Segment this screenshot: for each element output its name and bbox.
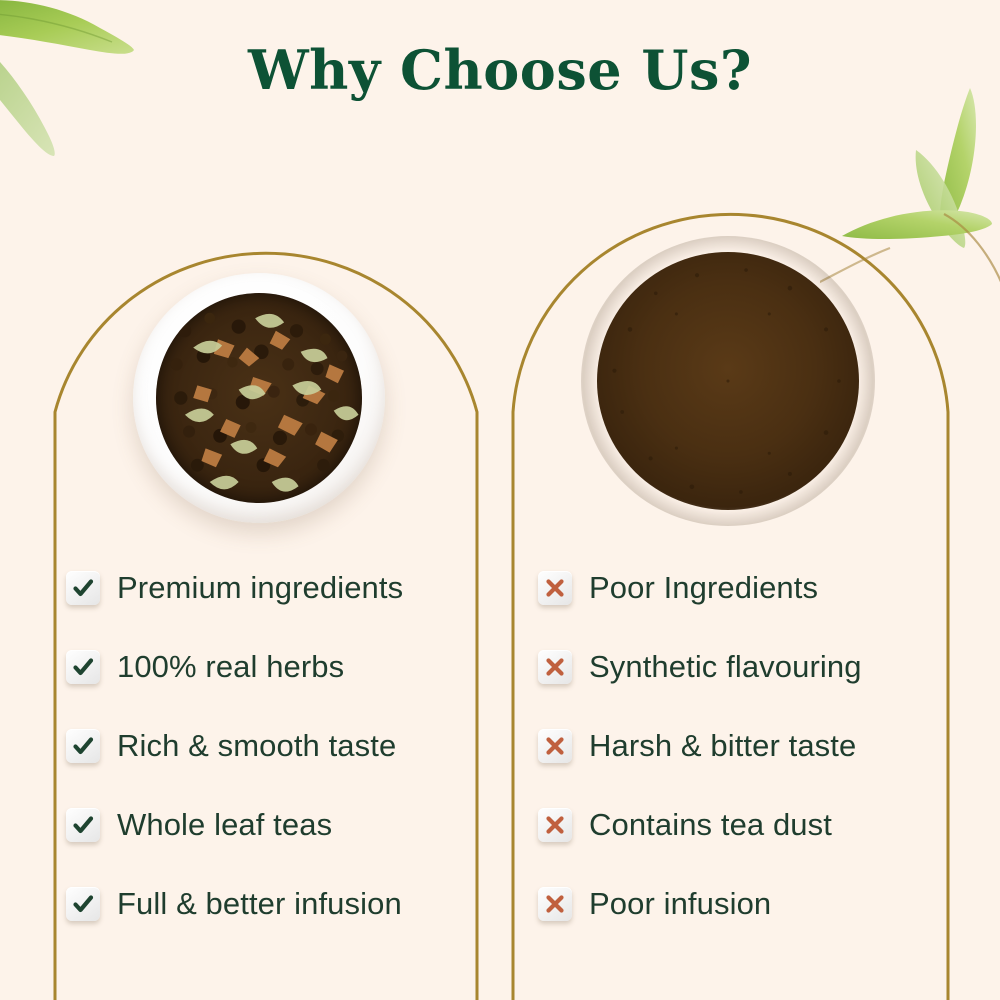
list-item: Harsh & bitter taste [538,706,938,785]
list-item-label: 100% real herbs [117,651,344,682]
list-item-label: Premium ingredients [117,572,403,603]
pile-of-tea-dust-image [597,252,859,510]
list-item: Poor infusion [538,864,938,943]
list-item: Whole leaf teas [66,785,466,864]
pros-list: Premium ingredients 100% real herbs Rich… [66,548,466,943]
list-item: Rich & smooth taste [66,706,466,785]
check-icon [66,571,100,605]
list-item-label: Rich & smooth taste [117,730,396,761]
cross-icon [538,887,572,921]
list-item-label: Contains tea dust [589,809,832,840]
tea-leaves-fill [156,293,363,503]
cross-icon [538,571,572,605]
list-item-label: Poor infusion [589,888,771,919]
cons-list: Poor Ingredients Synthetic flavouring Ha… [538,548,938,943]
list-item: Synthetic flavouring [538,627,938,706]
list-item-label: Whole leaf teas [117,809,332,840]
check-icon [66,887,100,921]
cross-icon [538,729,572,763]
check-icon [66,729,100,763]
list-item-label: Synthetic flavouring [589,651,862,682]
list-item-label: Full & better infusion [117,888,402,919]
cross-icon [538,650,572,684]
cross-icon [538,808,572,842]
list-item-label: Harsh & bitter taste [589,730,856,761]
list-item: Full & better infusion [66,864,466,943]
list-item: 100% real herbs [66,627,466,706]
list-item: Contains tea dust [538,785,938,864]
list-item: Poor Ingredients [538,548,938,627]
bowl-of-whole-leaf-tea-image [133,273,385,523]
check-icon [66,650,100,684]
comparison-infographic: Why Choose Us? [0,0,1000,1000]
list-item-label: Poor Ingredients [589,572,818,603]
list-item: Premium ingredients [66,548,466,627]
tea-leaf-icon [0,0,182,178]
check-icon [66,808,100,842]
